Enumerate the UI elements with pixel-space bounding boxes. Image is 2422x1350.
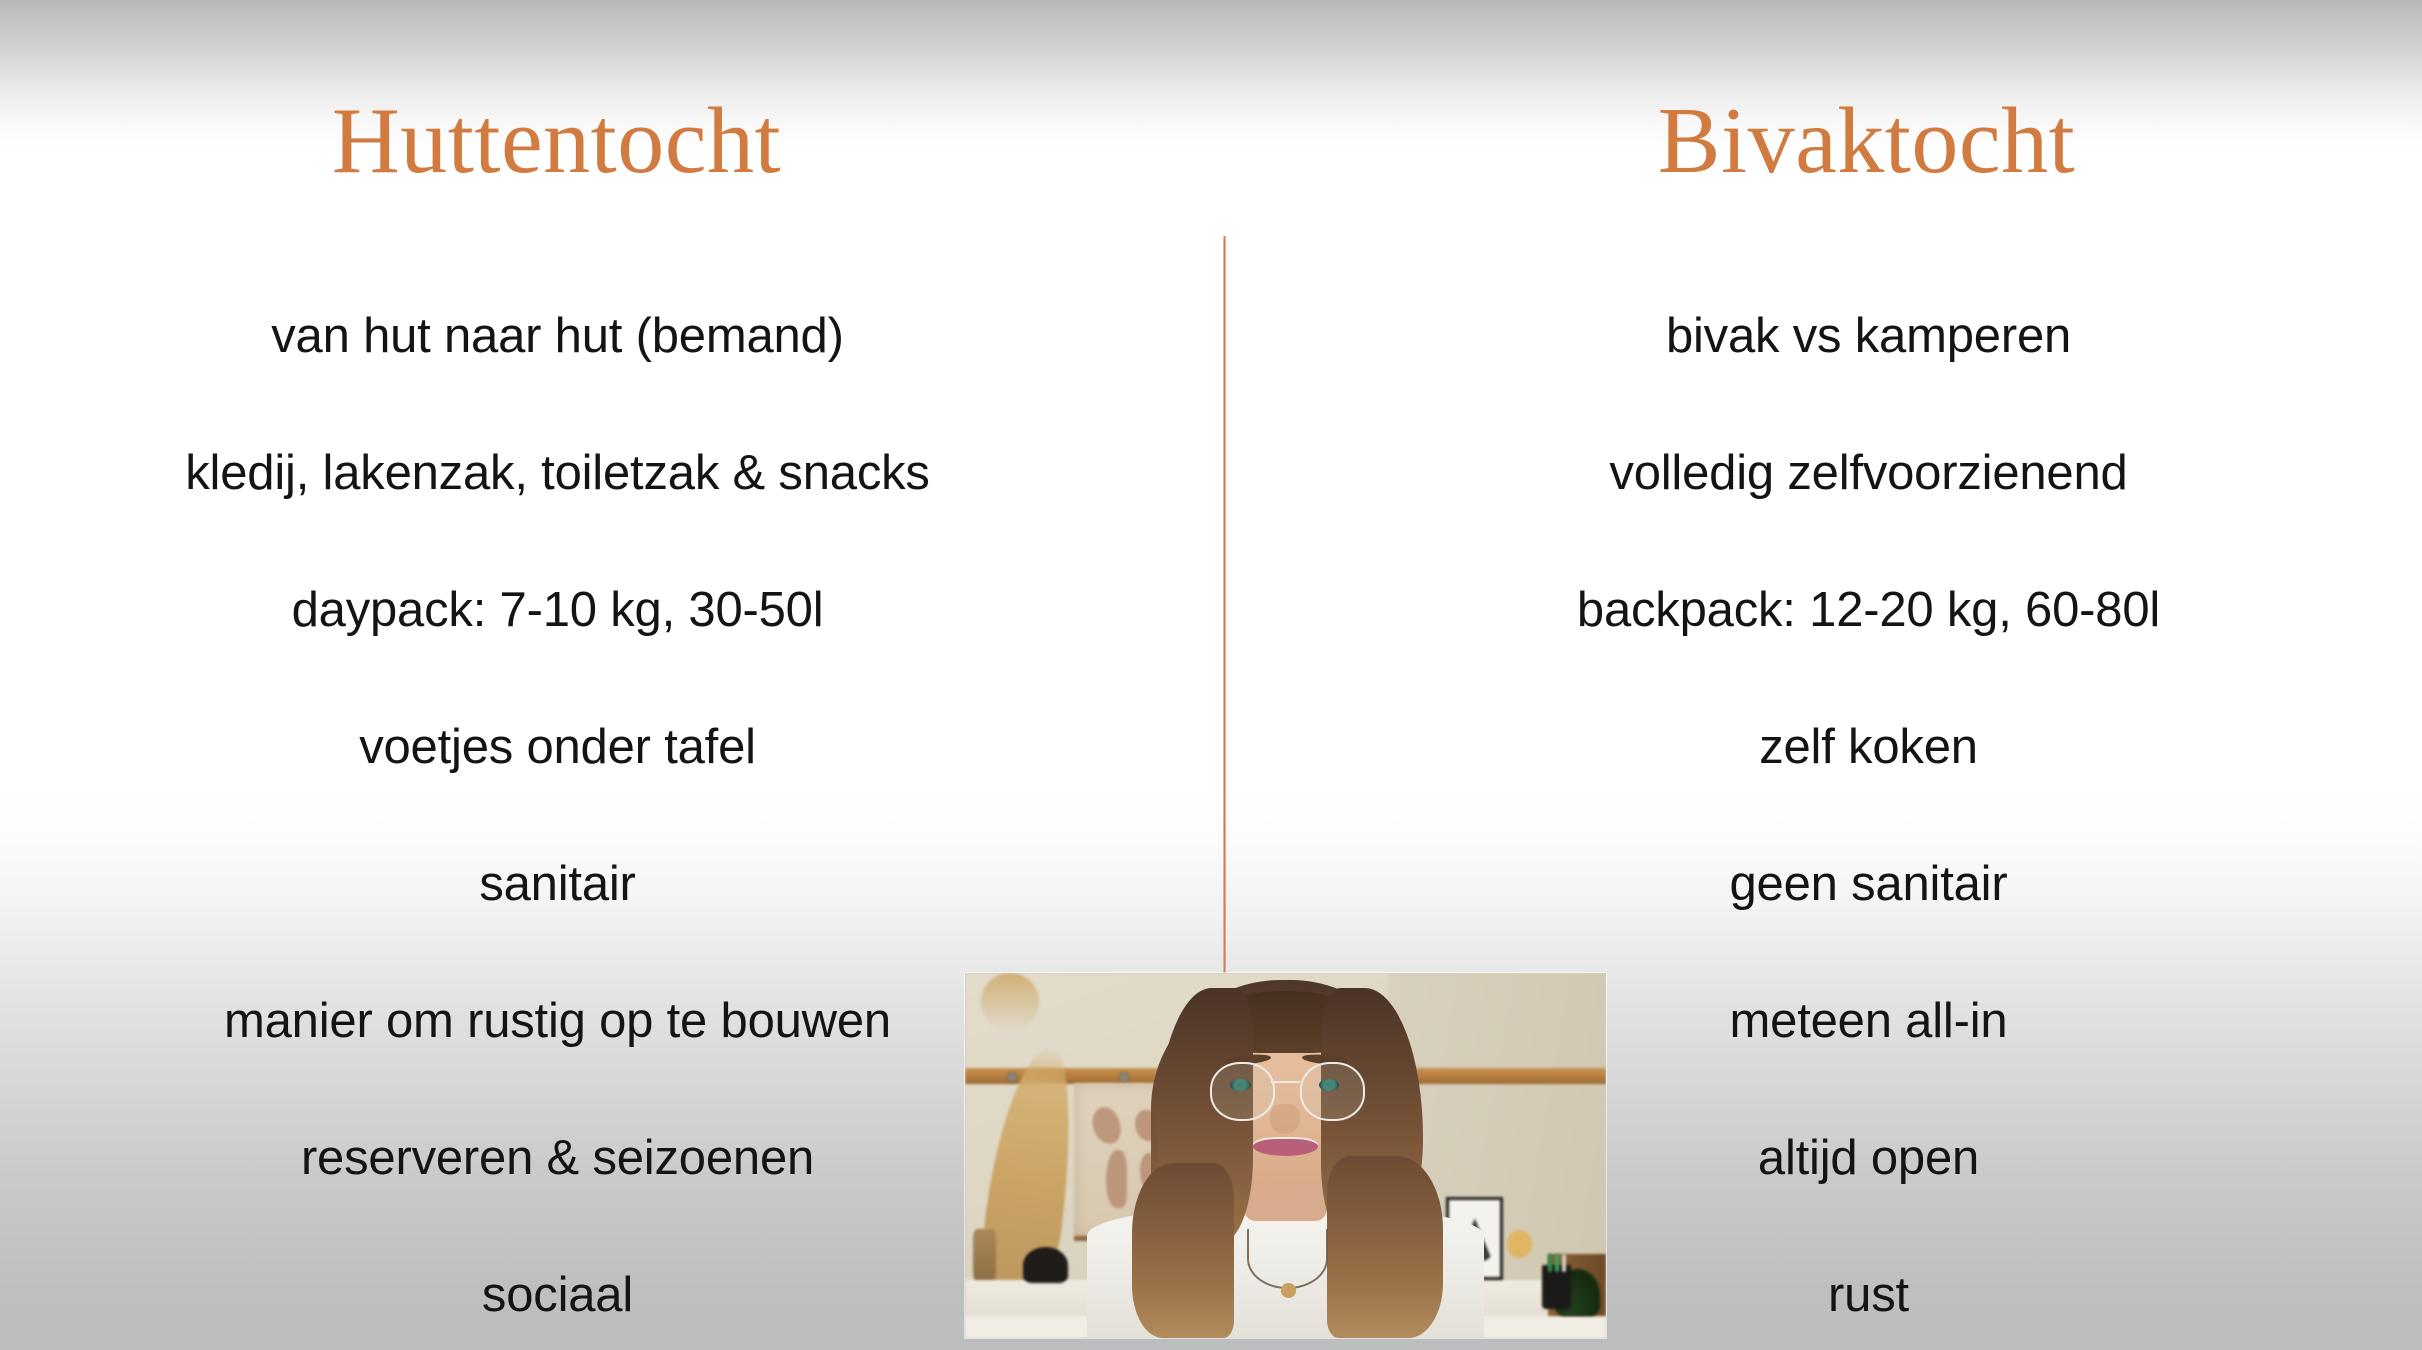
glasses-bridge (1271, 1081, 1299, 1084)
list-item: backpack: 12-20 kg, 60-80l (1315, 542, 2422, 679)
column-title-huttentocht: Huttentocht (0, 94, 1211, 188)
glasses-lens-left (1210, 1062, 1276, 1121)
list-item: voetjes onder tafel (0, 679, 1115, 816)
list-item: sanitair (0, 816, 1115, 953)
person-hair-drape-left (1132, 1163, 1235, 1338)
speaker-object (1023, 1247, 1068, 1284)
person-hair-drape-right (1327, 1156, 1442, 1339)
rail-hook-icon (1007, 1072, 1017, 1082)
pampas-grass-top (981, 973, 1039, 1031)
person-necklace (1247, 1229, 1328, 1289)
person-nose (1270, 1104, 1299, 1133)
glasses-lens-right (1300, 1062, 1366, 1121)
pencil-holder (1542, 1265, 1571, 1309)
slide-canvas: Huttentocht van hut naar hut (bemand) kl… (0, 0, 2422, 1350)
list-item: reserveren & seizoenen (0, 1090, 1115, 1227)
vase (973, 1229, 996, 1287)
list-item: volledig zelfvoorzienend (1315, 405, 2422, 542)
list-item: zelf koken (1315, 679, 2422, 816)
column-title-bivaktocht: Bivaktocht (1211, 94, 2422, 188)
list-item: kledij, lakenzak, toiletzak & snacks (0, 405, 1115, 542)
list-item: van hut naar hut (bemand) (0, 268, 1115, 405)
round-decoration (1507, 1230, 1533, 1257)
list-item: bivak vs kamperen (1315, 268, 2422, 405)
list-item: daypack: 7-10 kg, 30-50l (0, 542, 1115, 679)
list-item: manier om rustig op te bouwen (0, 953, 1115, 1090)
webcam-video-overlay[interactable] (965, 973, 1606, 1338)
list-item: sociaal (0, 1227, 1115, 1350)
person-pendant (1281, 1283, 1296, 1298)
list-item: geen sanitair (1315, 816, 2422, 953)
